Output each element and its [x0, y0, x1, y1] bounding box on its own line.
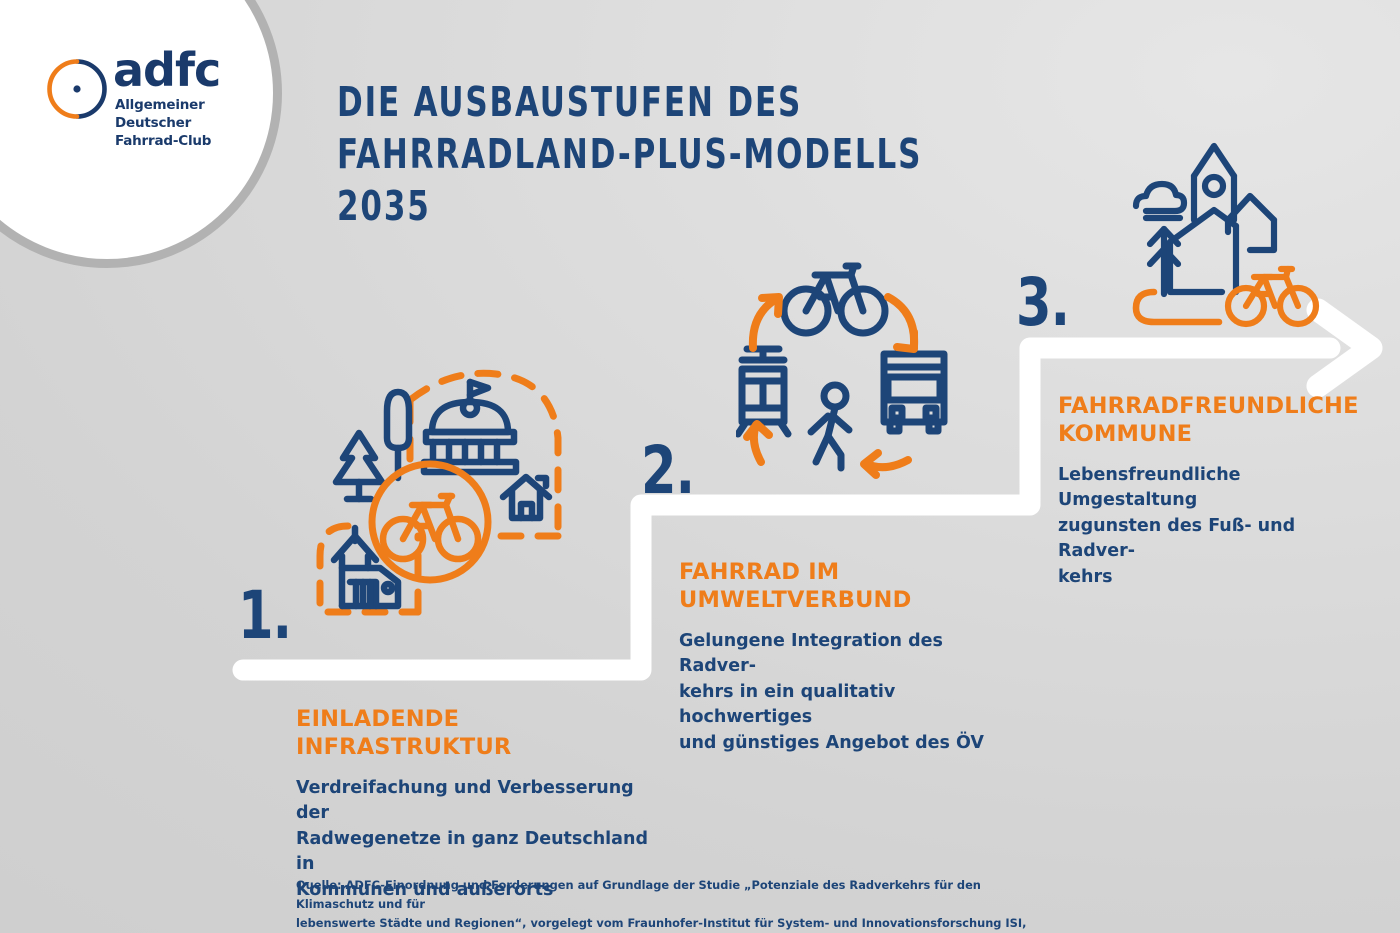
bus-icon: [884, 354, 944, 431]
step-description-2: Gelungene Integration des Radver- kehrs …: [679, 629, 1019, 757]
step-number-2: 2.: [641, 438, 694, 504]
adfc-circle-logo-icon: [45, 57, 109, 121]
bicycle-icon: [1228, 269, 1316, 324]
page-title: Die Ausbaustufen des Fahrradland-Plus-Mo…: [337, 76, 959, 232]
step-number-1: 1.: [238, 583, 291, 649]
government-building-icon: [424, 382, 516, 472]
step-block-2: Fahrrad im Umweltverbund Gelungene Integ…: [679, 558, 1019, 756]
pine-tree-icon: [336, 433, 382, 499]
infographic-canvas: adfc Allgemeiner Deutscher Fahrrad-Club …: [0, 0, 1400, 933]
step-block-1: Einladende Infrastruktur Verdreifachung …: [296, 705, 656, 903]
infrastructure-icon: [300, 366, 572, 622]
orange-cycle-path-icon: [1136, 292, 1219, 322]
bicycle-icon: [784, 266, 885, 333]
cloud-icon: [1136, 184, 1184, 218]
step-number-3: 3.: [1016, 270, 1069, 336]
adfc-wordmark: adfc: [113, 47, 220, 93]
livable-town-icon: [1122, 132, 1342, 332]
step-description-3: Lebensfreundliche Umgestaltung zugunsten…: [1058, 463, 1358, 591]
bicycle-in-circle-icon: [372, 464, 488, 580]
step-title-1: Einladende Infrastruktur: [296, 705, 656, 762]
pedestrian-icon: [811, 385, 849, 468]
adfc-logo-badge: adfc Allgemeiner Deutscher Fahrrad-Club: [0, 0, 282, 268]
step-title-3: Fahrradfreundliche Kommune: [1058, 392, 1358, 449]
source-text: ADFC-Einordnung und Forderungen auf Grun…: [296, 878, 1026, 933]
modal-cycle-icon: [736, 250, 1004, 480]
step-block-3: Fahrradfreundliche Kommune Lebensfreundl…: [1058, 392, 1358, 590]
house-icon: [503, 477, 549, 518]
step-title-2: Fahrrad im Umweltverbund: [679, 558, 1019, 615]
adfc-subtitle: Allgemeiner Deutscher Fahrrad-Club: [115, 97, 245, 150]
source-label: Quelle:: [296, 878, 342, 892]
adfc-logo: adfc Allgemeiner Deutscher Fahrrad-Club: [45, 55, 245, 145]
poplar-tree-icon: [387, 392, 409, 478]
tram-icon: [738, 349, 788, 434]
source-note: Quelle: ADFC-Einordnung und Forderungen …: [296, 876, 1056, 933]
